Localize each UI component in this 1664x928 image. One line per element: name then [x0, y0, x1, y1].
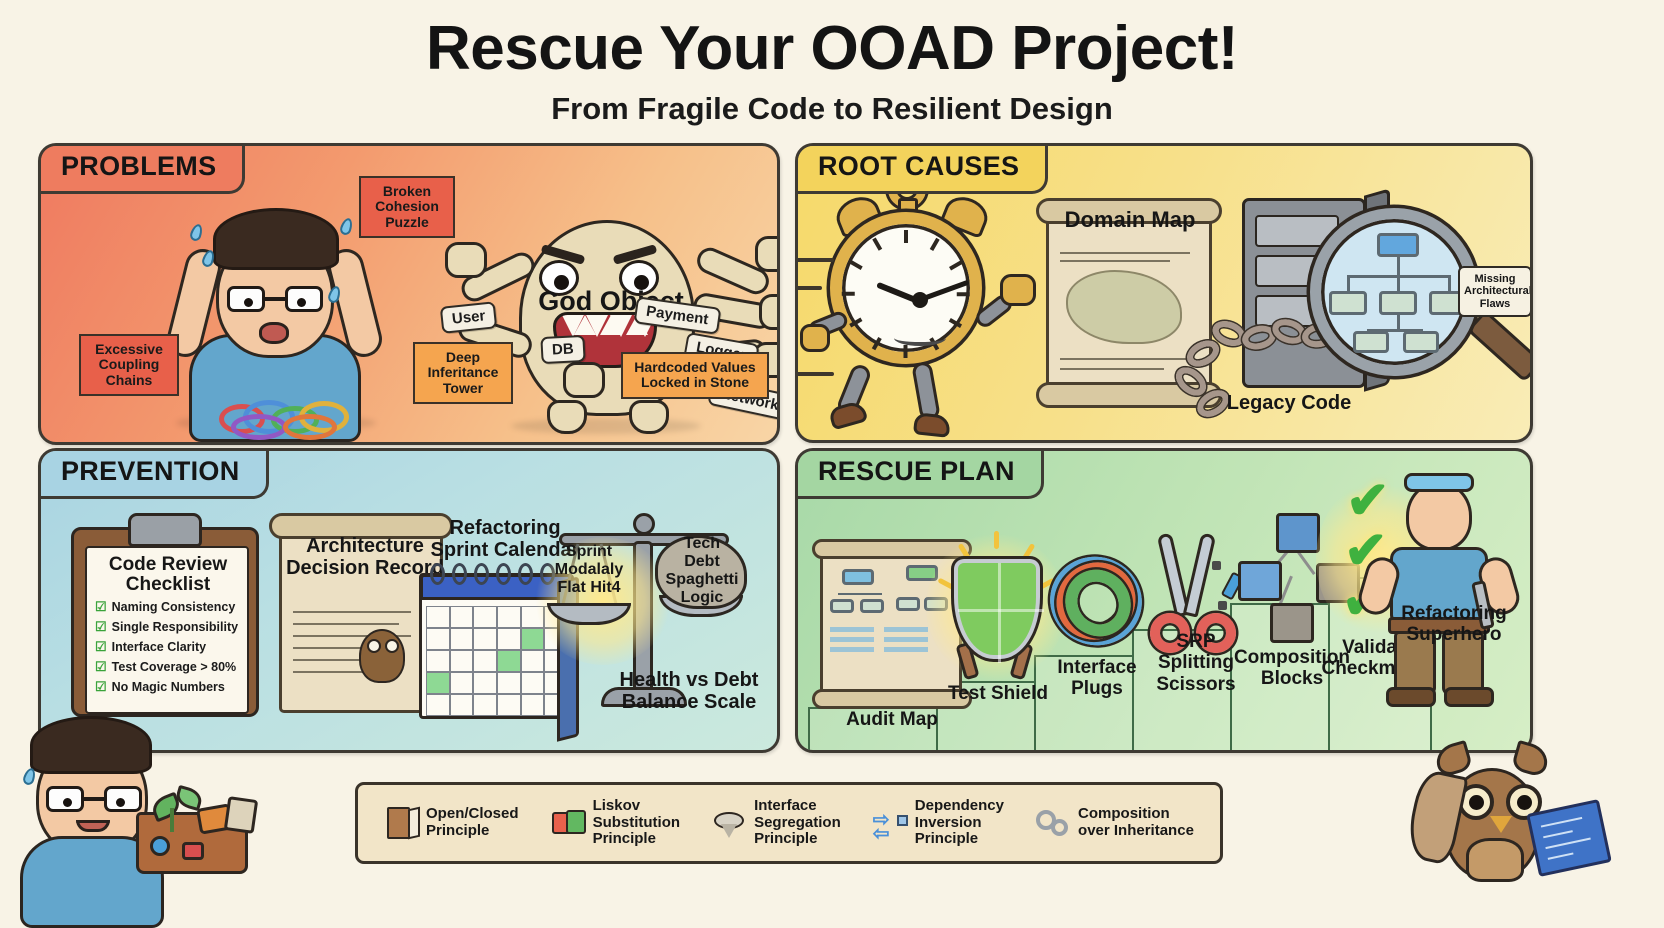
monster-tag-user: User [440, 301, 498, 334]
legend-item-composition-over-inheritance: Composition over Inheritance [1036, 806, 1194, 840]
check-icon: ☑ [95, 619, 107, 635]
panel-problems-heading: PROBLEMS [39, 144, 245, 194]
check-icon: ☑ [95, 599, 107, 615]
missing-architecture-label: Missing Architectural Flaws [1458, 266, 1532, 317]
checklist-item-label: Test Coverage > 80% [112, 660, 236, 674]
panel-rescue-plan-heading: RESCUE PLAN [796, 449, 1044, 499]
check-icon: ☑ [95, 639, 107, 655]
flag-deep-inheritance: Deep Inferitance Tower [413, 342, 513, 404]
flag-hardcoded-values: Hardcoded Values Locked in Stone [621, 352, 769, 399]
legacy-code-label: Legacy Code [1194, 392, 1384, 414]
title-block: Rescue Your OOAD Project! From Fragile C… [0, 16, 1664, 127]
code-review-checklist: Code Review Checklist ☑ Naming Consisten… [71, 527, 259, 717]
checklist-item: ☑ Interface Clarity [95, 639, 241, 655]
monster-tag-db: DB [540, 335, 585, 364]
panel-prevention: PREVENTION Code Review Checklist ☑ Namin… [38, 448, 780, 753]
door-icon [384, 806, 418, 840]
step-label-refactoring-superhero: Refactoring Superhero [1390, 603, 1518, 646]
checklist-item: ☑ Test Coverage > 80% [95, 659, 241, 675]
panel-root-causes-heading: ROOT CAUSES [796, 144, 1048, 194]
flag-excessive-coupling: Excessive Coupling Chains [79, 334, 179, 396]
checklist-item-label: Single Responsibility [112, 620, 238, 634]
funnel-icon [712, 806, 746, 840]
checklist-item: ☑ Single Responsibility [95, 619, 241, 635]
puzzle-icon [551, 806, 585, 840]
panel-problems: PROBLEMS [38, 143, 780, 445]
checkmark-icon: ✔ [1346, 475, 1390, 527]
arrows-icon: ⇨ ⇦ [873, 806, 907, 840]
checklist-item-label: Interface Clarity [112, 640, 206, 654]
legend-label: Liskov Substitution Principle [593, 798, 680, 848]
check-icon: ☑ [95, 659, 107, 675]
legend-label: Dependency Inversion Principle [915, 798, 1004, 848]
page-title: Rescue Your OOAD Project! [0, 16, 1664, 81]
page-subtitle: From Fragile Code to Resilient Design [0, 91, 1664, 127]
principles-legend: Open/Closed Principle Liskov Substitutio… [355, 782, 1223, 864]
checklist-item: ☑ Naming Consistency [95, 599, 241, 615]
legend-item-open-closed: Open/Closed Principle [384, 806, 519, 840]
checklist-item: ☑ No Magic Numbers [95, 679, 241, 695]
step-label-interface-plugs: Interface Plugs [1042, 657, 1152, 700]
scale-left-label: Sprint Modalaly Flat Hit4 [541, 543, 637, 597]
step-label-audit-map: Audit Map [818, 709, 966, 730]
flag-broken-cohesion: Broken Cohesion Puzzle [359, 176, 455, 238]
legend-label: Composition over Inheritance [1078, 806, 1194, 840]
legend-item-interface-segregation: Interface Segregation Principle [712, 798, 841, 848]
legend-item-dependency-inversion: ⇨ ⇦ Dependency Inversion Principle [873, 798, 1004, 848]
gears-icon [1036, 806, 1070, 840]
clipboard-clip-icon [128, 513, 202, 547]
panel-prevention-heading: PREVENTION [39, 449, 269, 499]
checklist-title: Code Review Checklist [95, 555, 241, 595]
blueprint-icon [1526, 799, 1612, 877]
legend-label: Interface Segregation Principle [754, 798, 841, 848]
checklist-item-label: No Magic Numbers [112, 680, 225, 694]
tangled-yarn-icon [213, 398, 363, 445]
domain-map-label: Domain Map [1040, 208, 1220, 233]
check-icon: ☑ [95, 679, 107, 695]
infographic-canvas: Rescue Your OOAD Project! From Fragile C… [0, 0, 1664, 928]
scale-caption: Health vs Debt Balance Scale [589, 669, 780, 714]
panel-rescue-plan: RESCUE PLAN [795, 448, 1533, 753]
checklist-item-label: Naming Consistency [112, 600, 236, 614]
scale-right-label: Tech Debt Spaghetti Logic [657, 535, 747, 607]
legend-item-liskov: Liskov Substitution Principle [551, 798, 680, 848]
panel-root-causes: ROOT CAUSES [795, 143, 1533, 443]
legend-label: Open/Closed Principle [426, 806, 519, 840]
